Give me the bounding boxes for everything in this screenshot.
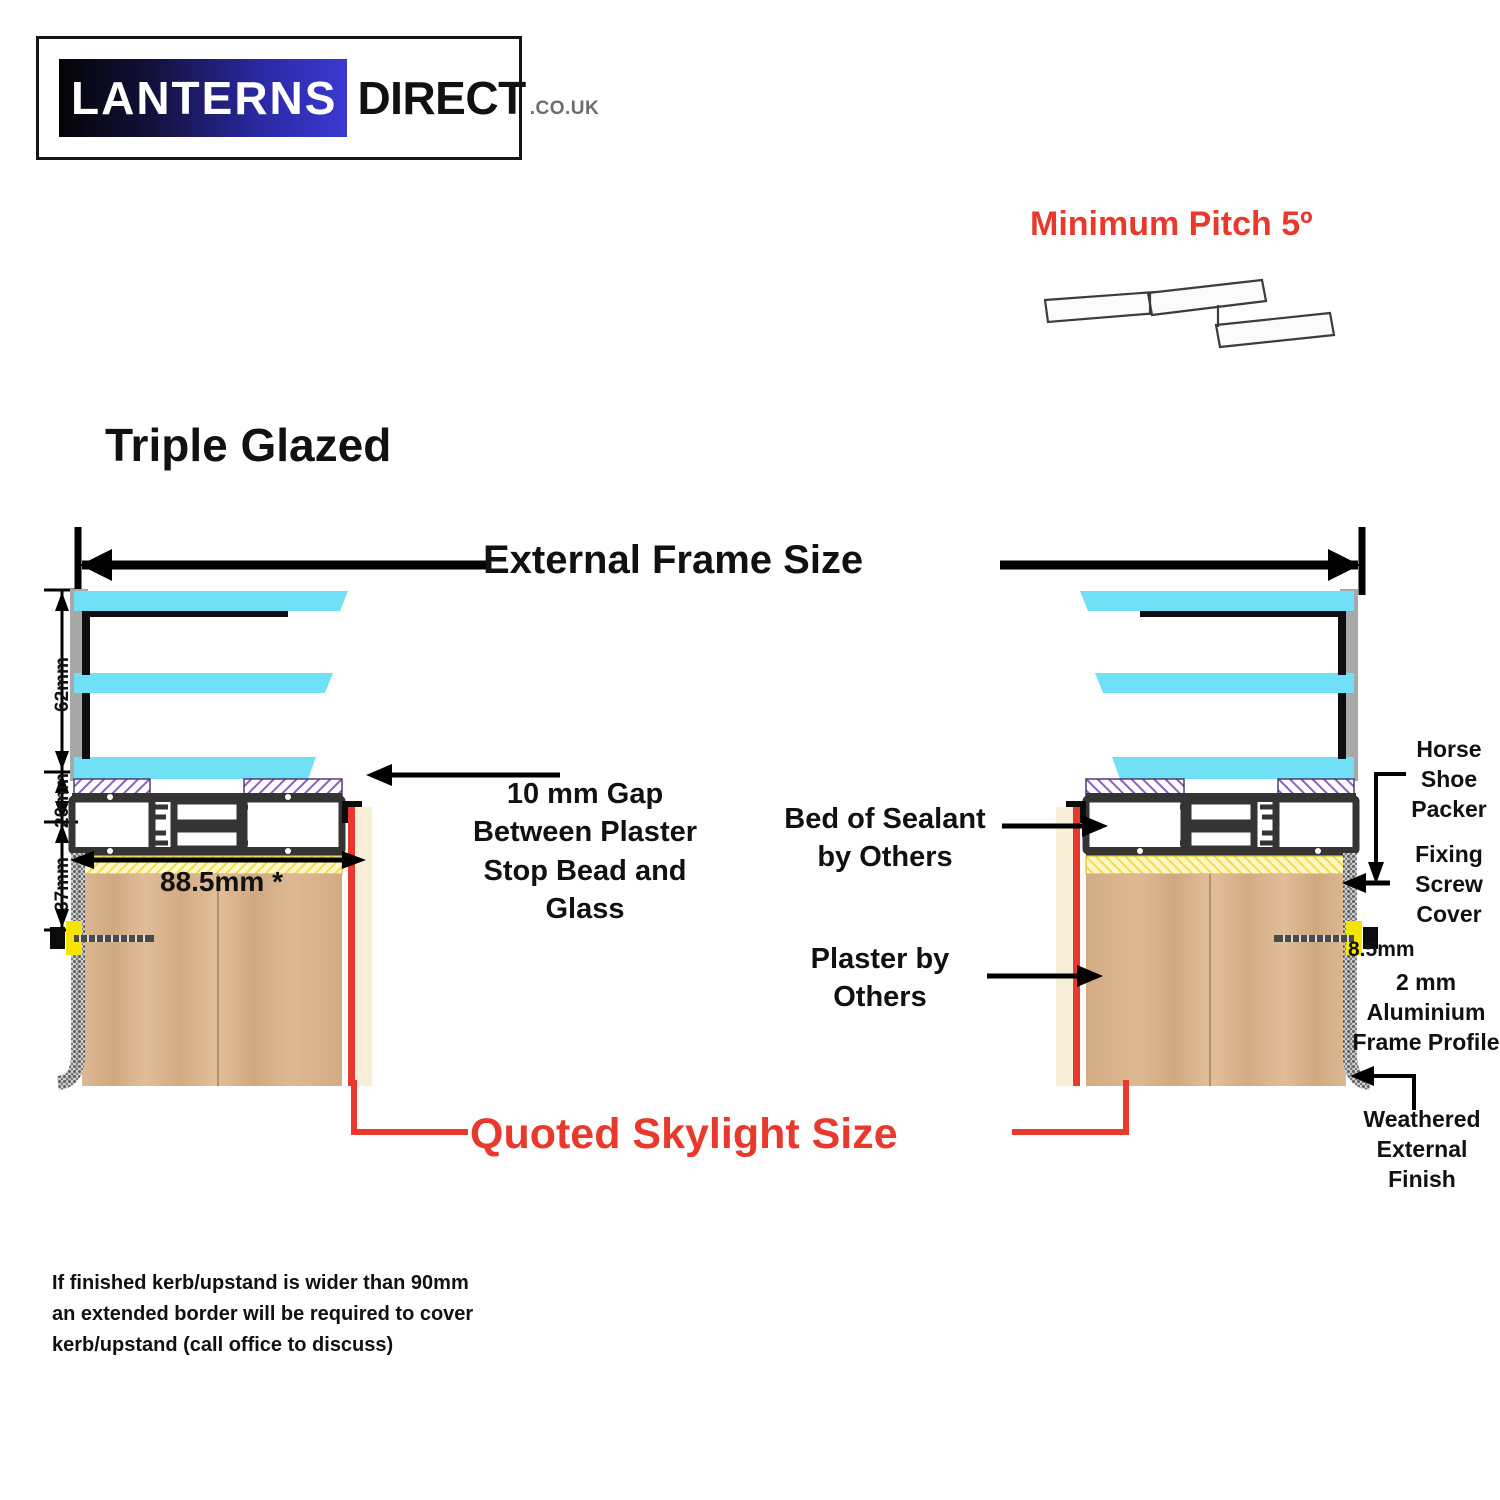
fixing-screw-cover-text: Fixing Screw Cover	[1390, 840, 1500, 930]
gap-line-1: 10 mm Gap	[440, 775, 730, 813]
aluminium-profile-text: 2 mm Aluminium Frame Profile	[1352, 968, 1500, 1058]
logo-direct-text: DIRECT	[357, 71, 525, 125]
sealant-callout-label: Bed of Sealant by Others	[760, 800, 1010, 877]
cross-section-left	[48, 585, 388, 1095]
plaster-callout-label: Plaster by Others	[760, 940, 1000, 1017]
minimum-pitch-title: Minimum Pitch 5º	[1030, 205, 1390, 244]
gap-line-3: Stop Bead and	[440, 852, 730, 890]
page-title: Triple Glazed	[105, 418, 391, 472]
quoted-skylight-size-label: Quoted Skylight Size	[470, 1110, 898, 1159]
gap-callout-label: 10 mm Gap Between Plaster Stop Bead and …	[440, 775, 730, 928]
footnote: If finished kerb/upstand is wider than 9…	[52, 1268, 522, 1361]
gap-line-2: Between Plaster	[440, 813, 730, 851]
footnote-line-3: kerb/upstand (call office to discuss)	[52, 1330, 522, 1361]
sealant-line-1: Bed of Sealant	[760, 800, 1010, 838]
external-frame-size-label: External Frame Size	[483, 538, 863, 583]
weathered-finish-label: Weathered External Finish	[1352, 1105, 1492, 1195]
sealant-callout-arrow	[1000, 812, 1110, 840]
footnote-line-1: If finished kerb/upstand is wider than 9…	[52, 1268, 522, 1299]
logo-right-group: DIRECT .CO.UK	[347, 71, 599, 125]
logo-tld-text: .CO.UK	[526, 98, 600, 120]
weathered-finish-text: Weathered External Finish	[1352, 1105, 1492, 1195]
stepped-glazing-bars-icon	[1040, 275, 1350, 375]
aluminium-profile-label: 2 mm Aluminium Frame Profile	[1352, 968, 1500, 1058]
fixing-screw-cover-label: Fixing Screw Cover	[1390, 840, 1500, 930]
gap-line-4: Glass	[440, 890, 730, 928]
frame-thickness-label: 8.5mm	[1348, 938, 1415, 962]
kerb-width-label: 88.5mm *	[160, 866, 283, 898]
logo-lanterns-text: LANTERNS	[59, 59, 347, 137]
cross-section-right	[1040, 585, 1380, 1095]
plaster-line-1: Plaster by	[760, 940, 1000, 978]
logo-inner: LANTERNS DIRECT .CO.UK	[59, 59, 539, 137]
sealant-line-2: by Others	[760, 838, 1010, 876]
footnote-line-2: an extended border will be required to c…	[52, 1299, 522, 1330]
fixing-screw-cover-arrow	[1340, 870, 1392, 896]
weathered-finish-leader	[1348, 1062, 1438, 1112]
plaster-callout-arrow	[985, 962, 1105, 990]
brand-logo: LANTERNS DIRECT .CO.UK	[36, 36, 522, 160]
plaster-line-2: Others	[760, 978, 1000, 1016]
